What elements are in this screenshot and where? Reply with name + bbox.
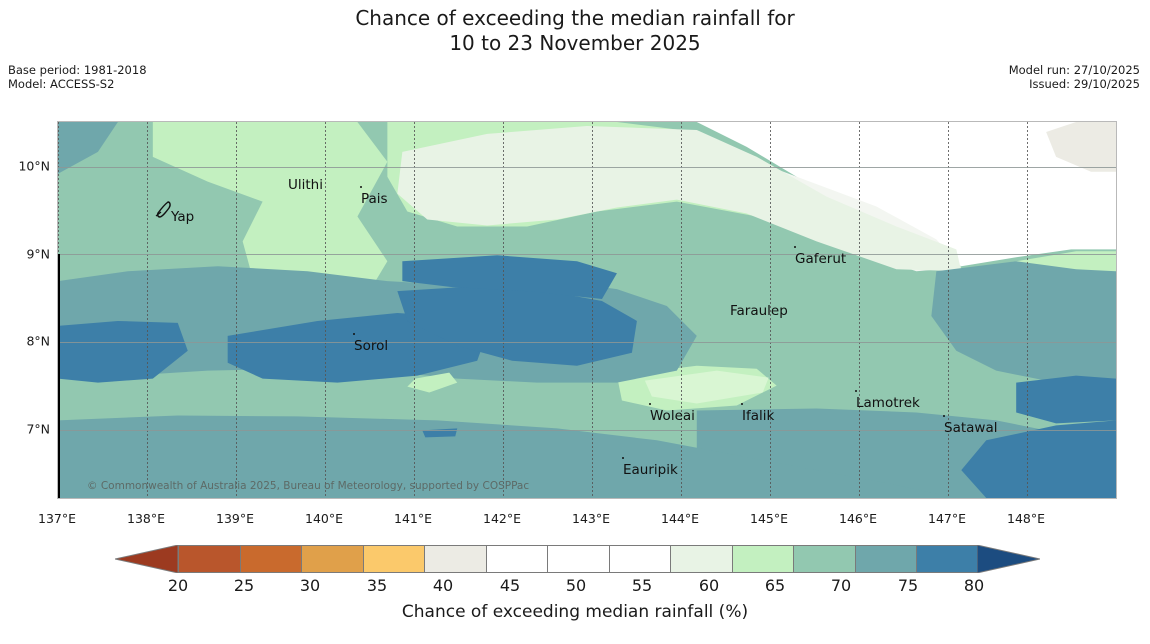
gridline-longitude <box>236 122 237 498</box>
colorbar-segment <box>917 546 978 572</box>
map-frame: © Commonwealth of Australia 2025, Bureau… <box>57 121 1117 499</box>
place-label: Gaferut <box>795 251 846 267</box>
colorbar-tick-40: 40 <box>433 576 453 595</box>
y-axis-tick-10N: 10°N <box>18 159 50 174</box>
colorbar-segment <box>671 546 733 572</box>
colorbar-segment <box>794 546 856 572</box>
colorbar-tick-65: 65 <box>765 576 785 595</box>
gridline-longitude <box>147 122 148 498</box>
x-axis-tick-144E: 144°E <box>661 511 699 526</box>
colorbar-panel: 20 25 30 35 40 45 50 55 60 65 70 75 80 C… <box>0 540 1150 644</box>
colorbar-tick-70: 70 <box>831 576 851 595</box>
x-axis-tick-147E: 147°E <box>928 511 966 526</box>
meridian-marker-line <box>58 254 60 498</box>
x-axis-tick-148E: 148°E <box>1007 511 1045 526</box>
model-run-text: Model run: 27/10/2025 <box>1009 63 1140 77</box>
colorbar-segment <box>241 546 303 572</box>
place-marker <box>741 403 743 405</box>
map-panel: © Commonwealth of Australia 2025, Bureau… <box>57 121 1117 499</box>
colorbar-tick-60: 60 <box>699 576 719 595</box>
colorbar-segment <box>610 546 672 572</box>
colorbar-tick-20: 20 <box>168 576 188 595</box>
x-axis-tick-145E: 145°E <box>750 511 788 526</box>
x-axis-tick-137E: 137°E <box>38 511 76 526</box>
metadata-right: Model run: 27/10/2025 Issued: 29/10/2025 <box>1009 63 1140 91</box>
place-label: Ifalik <box>742 408 774 424</box>
colorbar-segment <box>364 546 426 572</box>
place-marker <box>649 403 651 405</box>
place-marker <box>360 186 362 188</box>
gridline-longitude <box>414 122 415 498</box>
y-axis-tick-8N: 8°N <box>26 334 50 349</box>
issued-text: Issued: 29/10/2025 <box>1009 77 1140 91</box>
gridline-longitude <box>325 122 326 498</box>
colorbar-segment <box>733 546 795 572</box>
gridline-latitude <box>58 342 1116 343</box>
place-label: Woleai <box>650 408 695 424</box>
place-marker <box>943 415 945 417</box>
colorbar-tick-35: 35 <box>367 576 387 595</box>
x-axis-tick-142E: 142°E <box>483 511 521 526</box>
colorbar-tick-45: 45 <box>500 576 520 595</box>
place-marker <box>794 246 796 248</box>
colorbar-tick-75: 75 <box>898 576 918 595</box>
colorbar-tick-55: 55 <box>632 576 652 595</box>
place-label: Yap <box>171 209 194 225</box>
colorbar-segment <box>302 546 364 572</box>
colorbar-tick-80: 80 <box>964 576 984 595</box>
place-label: Sorol <box>354 338 388 354</box>
colorbar-tick-50: 50 <box>566 576 586 595</box>
gridline-longitude <box>859 122 860 498</box>
colorbar-tick-30: 30 <box>300 576 320 595</box>
colorbar <box>178 545 979 573</box>
y-axis-tick-7N: 7°N <box>26 422 50 437</box>
place-marker <box>855 390 857 392</box>
x-axis-tick-141E: 141°E <box>394 511 432 526</box>
place-label: Ulithi <box>288 177 323 193</box>
contour-field <box>58 122 1116 498</box>
colorbar-segment <box>548 546 610 572</box>
place-marker <box>353 333 355 335</box>
colorbar-segment <box>179 546 241 572</box>
colorbar-label: Chance of exceeding median rainfall (%) <box>0 602 1150 622</box>
x-axis-tick-140E: 140°E <box>305 511 343 526</box>
colorbar-over-arrow <box>977 545 1040 573</box>
x-axis-tick-146E: 146°E <box>839 511 877 526</box>
place-label: Faraulep <box>730 303 788 319</box>
x-axis-tick-138E: 138°E <box>127 511 165 526</box>
place-label: Eauripik <box>623 462 678 478</box>
gridline-latitude <box>58 167 1116 168</box>
gridline-longitude <box>681 122 682 498</box>
colorbar-segment <box>856 546 918 572</box>
y-axis-tick-9N: 9°N <box>26 247 50 262</box>
place-marker <box>622 457 624 459</box>
place-label: Satawal <box>944 420 997 436</box>
x-axis-tick-139E: 139°E <box>216 511 254 526</box>
gridline-longitude <box>592 122 593 498</box>
x-axis-tick-143E: 143°E <box>572 511 610 526</box>
colorbar-segment <box>425 546 487 572</box>
place-label: Pais <box>361 191 388 207</box>
colorbar-tick-25: 25 <box>234 576 254 595</box>
map-credit: © Commonwealth of Australia 2025, Bureau… <box>87 480 529 492</box>
gridline-latitude <box>58 254 1116 255</box>
gridline-longitude <box>503 122 504 498</box>
chart-title-line-2: 10 to 23 November 2025 <box>0 31 1150 56</box>
chart-title: Chance of exceeding the median rainfall … <box>0 6 1150 56</box>
gridline-longitude <box>1027 122 1028 498</box>
metadata-left: Base period: 1981-2018 Model: ACCESS-S2 <box>8 63 147 91</box>
base-period-text: Base period: 1981-2018 <box>8 63 147 77</box>
place-label: Lamotrek <box>856 395 920 411</box>
model-text: Model: ACCESS-S2 <box>8 77 147 91</box>
gridline-longitude <box>948 122 949 498</box>
colorbar-segment <box>487 546 549 572</box>
colorbar-under-arrow <box>115 545 178 573</box>
chart-title-line-1: Chance of exceeding the median rainfall … <box>0 6 1150 31</box>
